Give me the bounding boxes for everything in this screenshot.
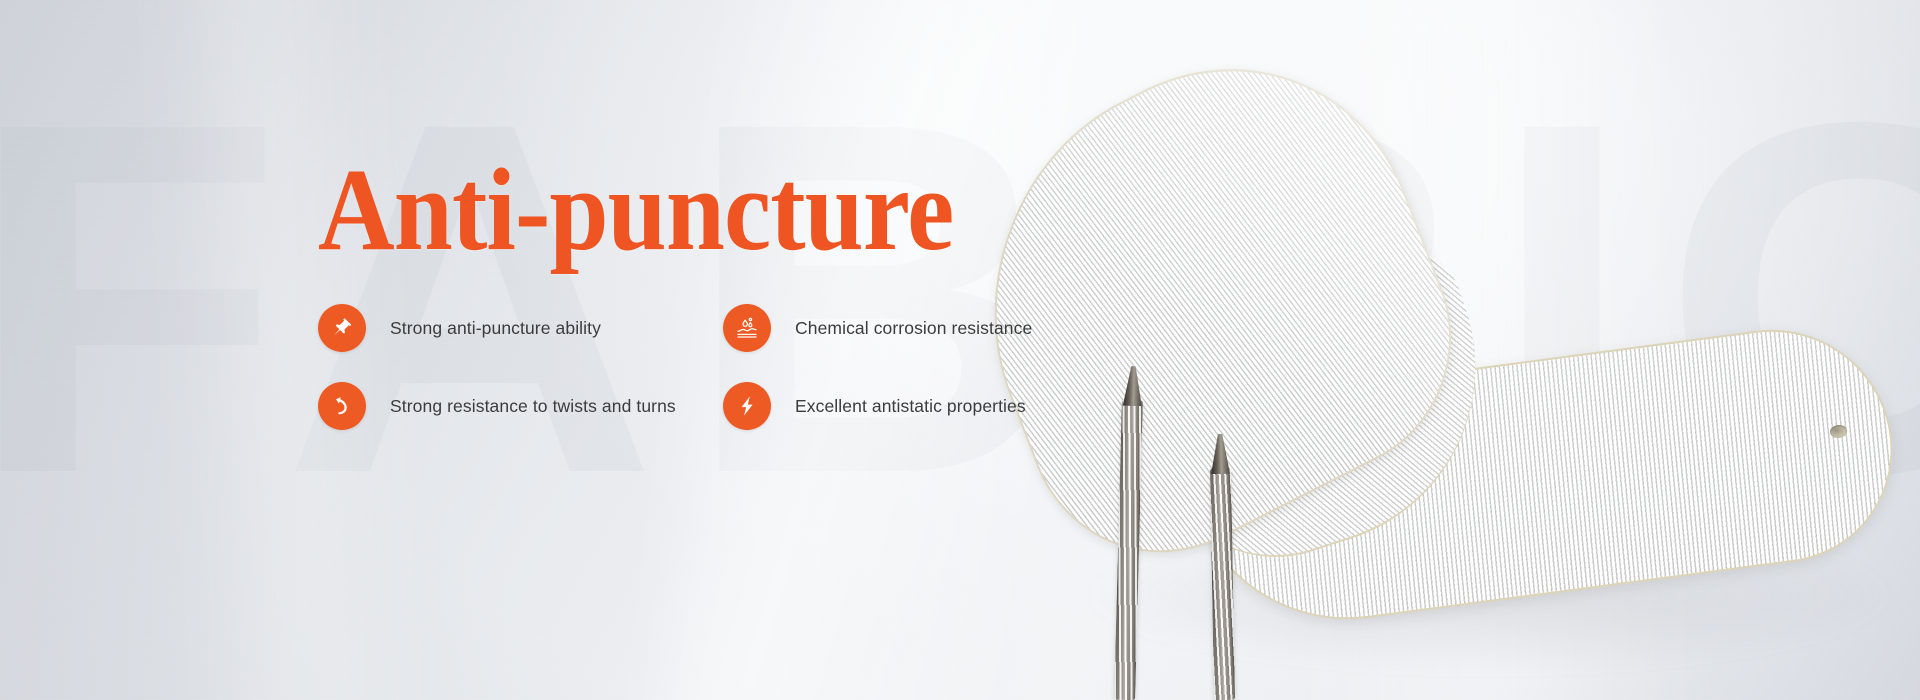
banner-content: Anti-puncture Strong anti-puncture abili… — [318, 150, 1218, 430]
lightning-bolt-icon — [723, 382, 771, 430]
feature-label: Strong anti-puncture ability — [390, 318, 601, 339]
pushpin-icon — [318, 304, 366, 352]
feature-item-antistatic: Excellent antistatic properties — [723, 382, 1128, 430]
feature-label: Strong resistance to twists and turns — [390, 396, 676, 417]
feature-item-twist-resistance: Strong resistance to twists and turns — [318, 382, 723, 430]
feature-label: Excellent antistatic properties — [795, 396, 1026, 417]
feature-item-anti-puncture: Strong anti-puncture ability — [318, 304, 723, 352]
water-repellent-icon — [723, 304, 771, 352]
page-title: Anti-puncture — [318, 150, 1128, 270]
feature-list: Strong anti-puncture ability — [318, 304, 1218, 430]
feature-item-chemical-resistance: Chemical corrosion resistance — [723, 304, 1128, 352]
rotate-arrow-icon — [318, 382, 366, 430]
product-feature-banner: FABRIC Anti-puncture — [0, 0, 1920, 700]
feature-label: Chemical corrosion resistance — [795, 318, 1032, 339]
